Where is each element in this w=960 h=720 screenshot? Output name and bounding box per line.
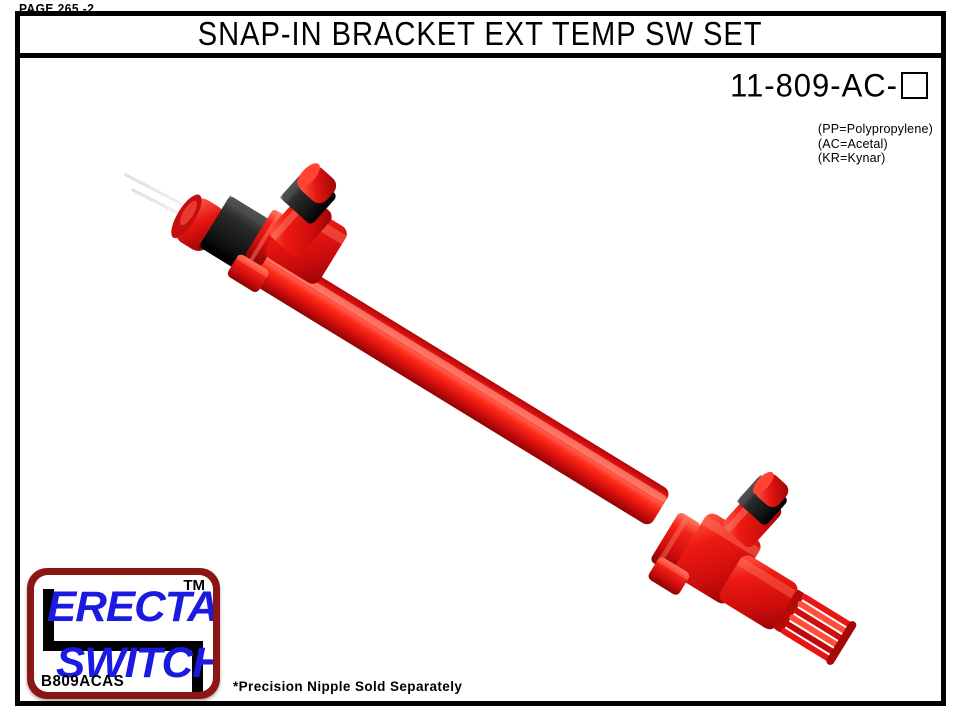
part-number: 11-809-AC- [730, 67, 898, 105]
material-legend: (PP=Polypropylene) (AC=Acetal) (KR=Kynar… [818, 122, 933, 166]
drawing-page: PAGE 265 -2 SNAP-IN BRACKET EXT TEMP SW … [0, 0, 960, 720]
footnote: *Precision Nipple Sold Separately [233, 679, 462, 694]
page-title: SNAP-IN BRACKET EXT TEMP SW SET [198, 15, 763, 53]
page-number: PAGE 265 -2 [19, 1, 94, 16]
logo-inner: ERECTA SWITCH TM B809ACAS [34, 575, 213, 692]
legend-line-ac: (AC=Acetal) [818, 137, 933, 152]
trademark-icon: TM [183, 577, 205, 594]
part-number-row: 11-809-AC- [730, 68, 928, 104]
erecta-switch-logo: ERECTA SWITCH TM B809ACAS [27, 568, 220, 699]
logo-code: B809ACAS [41, 673, 124, 691]
legend-line-kr: (KR=Kynar) [818, 151, 933, 166]
part-number-option-box [901, 72, 928, 99]
title-band: SNAP-IN BRACKET EXT TEMP SW SET [20, 16, 941, 58]
legend-line-pp: (PP=Polypropylene) [818, 122, 933, 137]
